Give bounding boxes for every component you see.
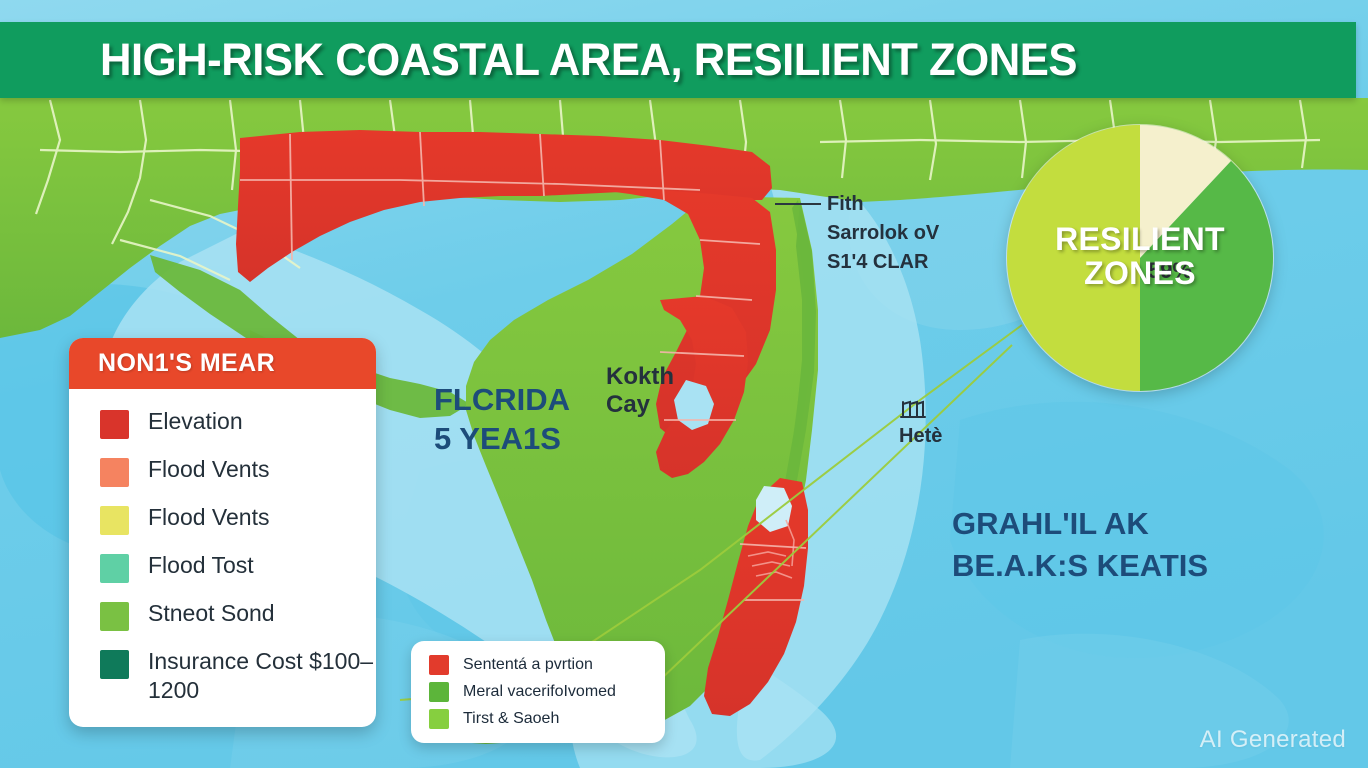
resilient-zones-pie-chart[interactable]: 59% RESILIENT ZONES [1005, 123, 1275, 393]
legend-item[interactable]: Flood Vents [69, 455, 376, 487]
mini-legend-item[interactable]: Meral vacerifoIvomed [429, 682, 649, 702]
infographic-canvas: HIGH-RISK COASTAL AREA, RESILIENT ZONES … [0, 0, 1368, 768]
legend-item-label: Flood Vents [148, 455, 269, 484]
pie-slice-group [1007, 125, 1273, 391]
legend-item-label: Elevation [148, 407, 243, 436]
location-marker-icon [900, 398, 926, 420]
mini-legend-label: Tirst & Saoeh [463, 710, 559, 728]
legend-panel: NON1'S MEAR Elevation Flood Vents Flood … [69, 338, 376, 727]
mini-legend-swatch [429, 655, 449, 675]
legend-color-swatch [100, 410, 129, 439]
legend-header: NON1'S MEAR [69, 338, 376, 389]
legend-color-swatch [100, 650, 129, 679]
legend-item-label: Flood Tost [148, 551, 254, 580]
legend-item[interactable]: Elevation [69, 407, 376, 439]
legend-item[interactable]: Stneot Sond [69, 599, 376, 631]
legend-color-swatch [100, 458, 129, 487]
pie-chart-svg [1005, 123, 1275, 393]
mini-legend-label: Sententá a pvrtion [463, 656, 593, 674]
legend-item[interactable]: Flood Vents [69, 503, 376, 535]
legend-color-swatch [100, 554, 129, 583]
mini-legend-swatch [429, 682, 449, 702]
legend-item[interactable]: Insurance Cost $100–1200 [69, 647, 376, 705]
legend-item-label: Flood Vents [148, 503, 269, 532]
mini-legend-label: Meral vacerifoIvomed [463, 683, 616, 701]
legend-header-title: NON1'S MEAR [98, 349, 275, 378]
legend-color-swatch [100, 506, 129, 535]
legend-item-list: Elevation Flood Vents Flood Vents Flood … [69, 389, 376, 727]
legend-item-label: Stneot Sond [148, 599, 275, 628]
legend-item[interactable]: Flood Tost [69, 551, 376, 583]
title-banner: HIGH-RISK COASTAL AREA, RESILIENT ZONES [0, 22, 1356, 98]
mini-legend-swatch [429, 709, 449, 729]
map-mini-legend: Sententá a pvrtion Meral vacerifoIvomed … [411, 641, 665, 743]
legend-item-label: Insurance Cost $100–1200 [148, 647, 376, 705]
mini-legend-item[interactable]: Tirst & Saoeh [429, 709, 649, 729]
callout-leader-line [775, 203, 821, 205]
legend-color-swatch [100, 602, 129, 631]
mini-legend-item[interactable]: Sententá a pvrtion [429, 655, 649, 675]
pie-slice[interactable] [1007, 125, 1140, 391]
page-title: HIGH-RISK COASTAL AREA, RESILIENT ZONES [100, 34, 1077, 86]
ai-generated-watermark: AI Generated [1200, 726, 1346, 754]
